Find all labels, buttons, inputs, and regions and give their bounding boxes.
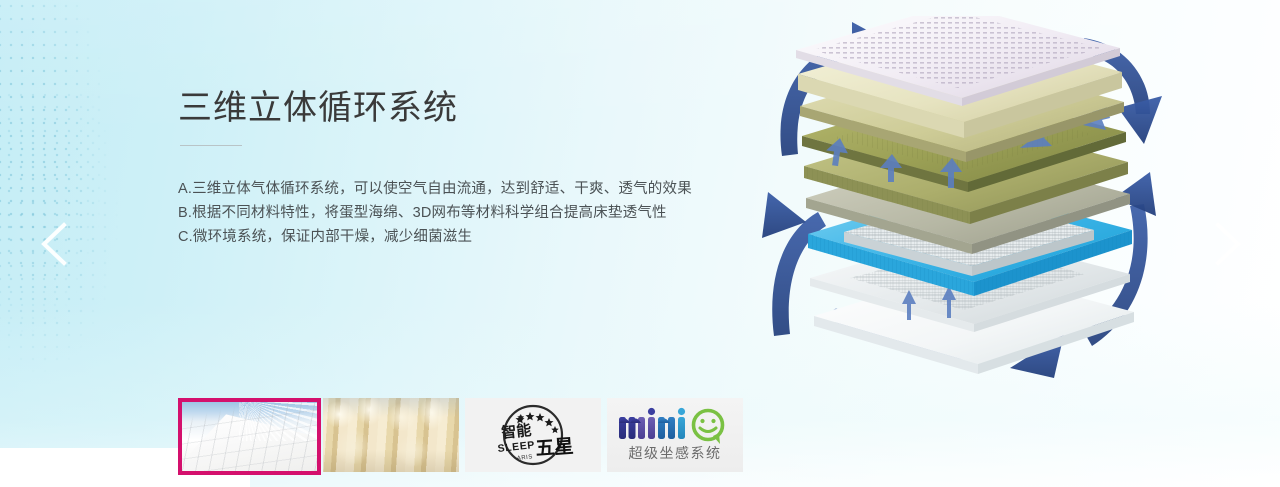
bullet-item-c: C.微环境系统，保证内部干燥，减少细菌滋生 bbox=[178, 225, 738, 249]
promo-slide: 三维立体循环系统 A.三维立体气体循环系统，可以使空气自由流通，达到舒适、干爽、… bbox=[0, 0, 1280, 487]
svg-text:智能: 智能 bbox=[501, 421, 533, 442]
title-divider bbox=[180, 145, 242, 146]
thumbnail-item-3[interactable]: 智能 SLEEP ARIS 五星 bbox=[465, 398, 601, 472]
svg-text:ARIS: ARIS bbox=[517, 454, 534, 462]
chevron-left-icon bbox=[30, 215, 82, 273]
svg-text:五星: 五星 bbox=[535, 435, 574, 460]
thumbnail-item-4[interactable]: 超级坐感系统 bbox=[607, 398, 743, 472]
svg-text:SLEEP: SLEEP bbox=[497, 439, 535, 455]
mini-logo-tagline: 超级坐感系统 bbox=[629, 445, 722, 462]
mattress-layers-illustration bbox=[752, 16, 1192, 388]
carousel-next-button[interactable] bbox=[1200, 215, 1252, 273]
thumbnail-image-mattress bbox=[182, 402, 317, 471]
sun-rays-decoration bbox=[239, 402, 317, 441]
thumbnail-image-latex bbox=[323, 398, 459, 472]
thumbnail-strip: 智能 SLEEP ARIS 五星 bbox=[178, 398, 749, 475]
mini-logo-icon: 超级坐感系统 bbox=[613, 405, 737, 465]
page-title: 三维立体循环系统 bbox=[178, 86, 738, 130]
slide-copy: 三维立体循环系统 A.三维立体气体循环系统，可以使空气自由流通，达到舒适、干爽、… bbox=[178, 86, 738, 249]
smart-five-star-badge-icon: 智能 SLEEP ARIS 五星 bbox=[474, 402, 592, 468]
thumbnail-item-2[interactable] bbox=[323, 398, 459, 472]
chevron-right-icon bbox=[1200, 215, 1252, 273]
thumbnail-item-1[interactable] bbox=[178, 398, 321, 475]
bullet-item-b: B.根据不同材料特性，将蛋型海绵、3D网布等材料科学组合提高床垫透气性 bbox=[178, 201, 738, 225]
bullet-item-a: A.三维立体气体循环系统，可以使空气自由流通，达到舒适、干爽、透气的效果 bbox=[178, 177, 738, 201]
carousel-prev-button[interactable] bbox=[30, 215, 82, 273]
bullet-list: A.三维立体气体循环系统，可以使空气自由流通，达到舒适、干爽、透气的效果 B.根… bbox=[178, 177, 738, 249]
